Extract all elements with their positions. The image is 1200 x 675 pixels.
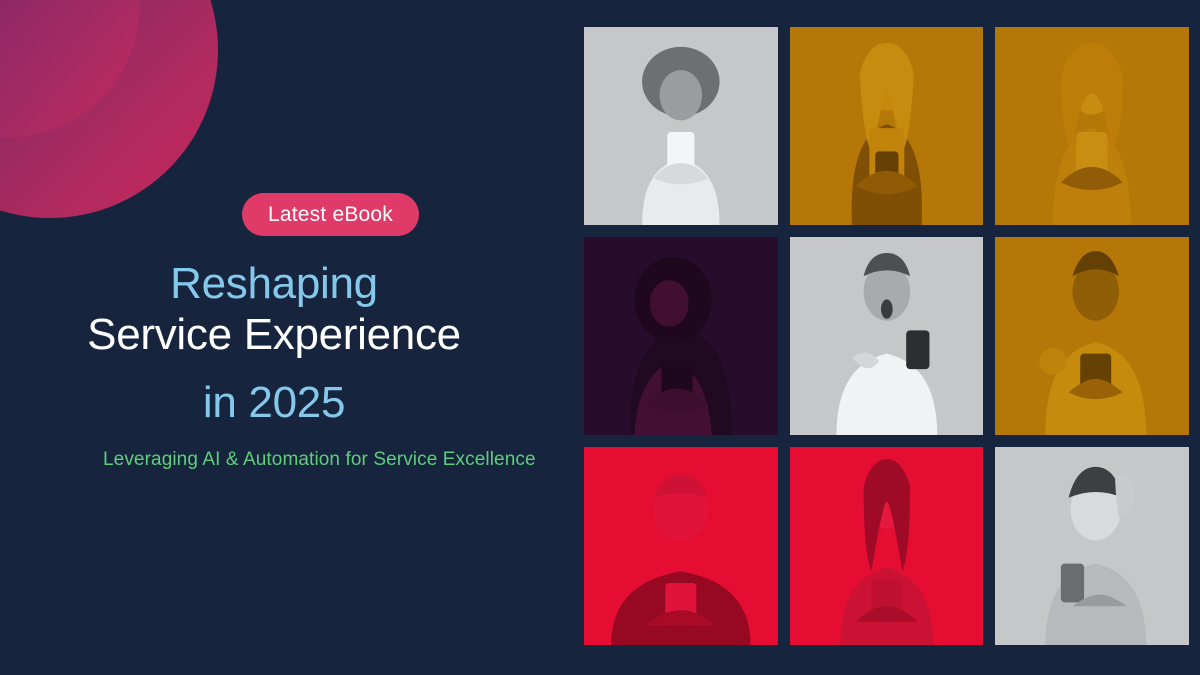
promo-banner: Latest eBook Reshaping Service Experienc… — [0, 0, 1200, 675]
latest-ebook-badge[interactable]: Latest eBook — [242, 193, 419, 236]
photo-tile-2 — [790, 27, 984, 225]
photo-tile-4 — [584, 237, 778, 435]
photo-tile-6 — [995, 237, 1189, 435]
photo-tile-1 — [584, 27, 778, 225]
hero-subtitle: Leveraging AI & Automation for Service E… — [103, 449, 573, 471]
photo-tile-5 — [790, 237, 984, 435]
page-title: Reshaping Service Experience in 2025 — [0, 258, 570, 428]
photo-grid — [584, 27, 1189, 645]
photo-tile-8 — [790, 447, 984, 645]
hero-text-column: Latest eBook Reshaping Service Experienc… — [0, 0, 570, 675]
headline-line-3: in 2025 — [0, 377, 548, 428]
headline-line-1: Reshaping — [0, 258, 548, 309]
headline-line-2: Service Experience — [0, 309, 548, 360]
photo-tile-9 — [995, 447, 1189, 645]
photo-tile-7 — [584, 447, 778, 645]
photo-tile-3 — [995, 27, 1189, 225]
